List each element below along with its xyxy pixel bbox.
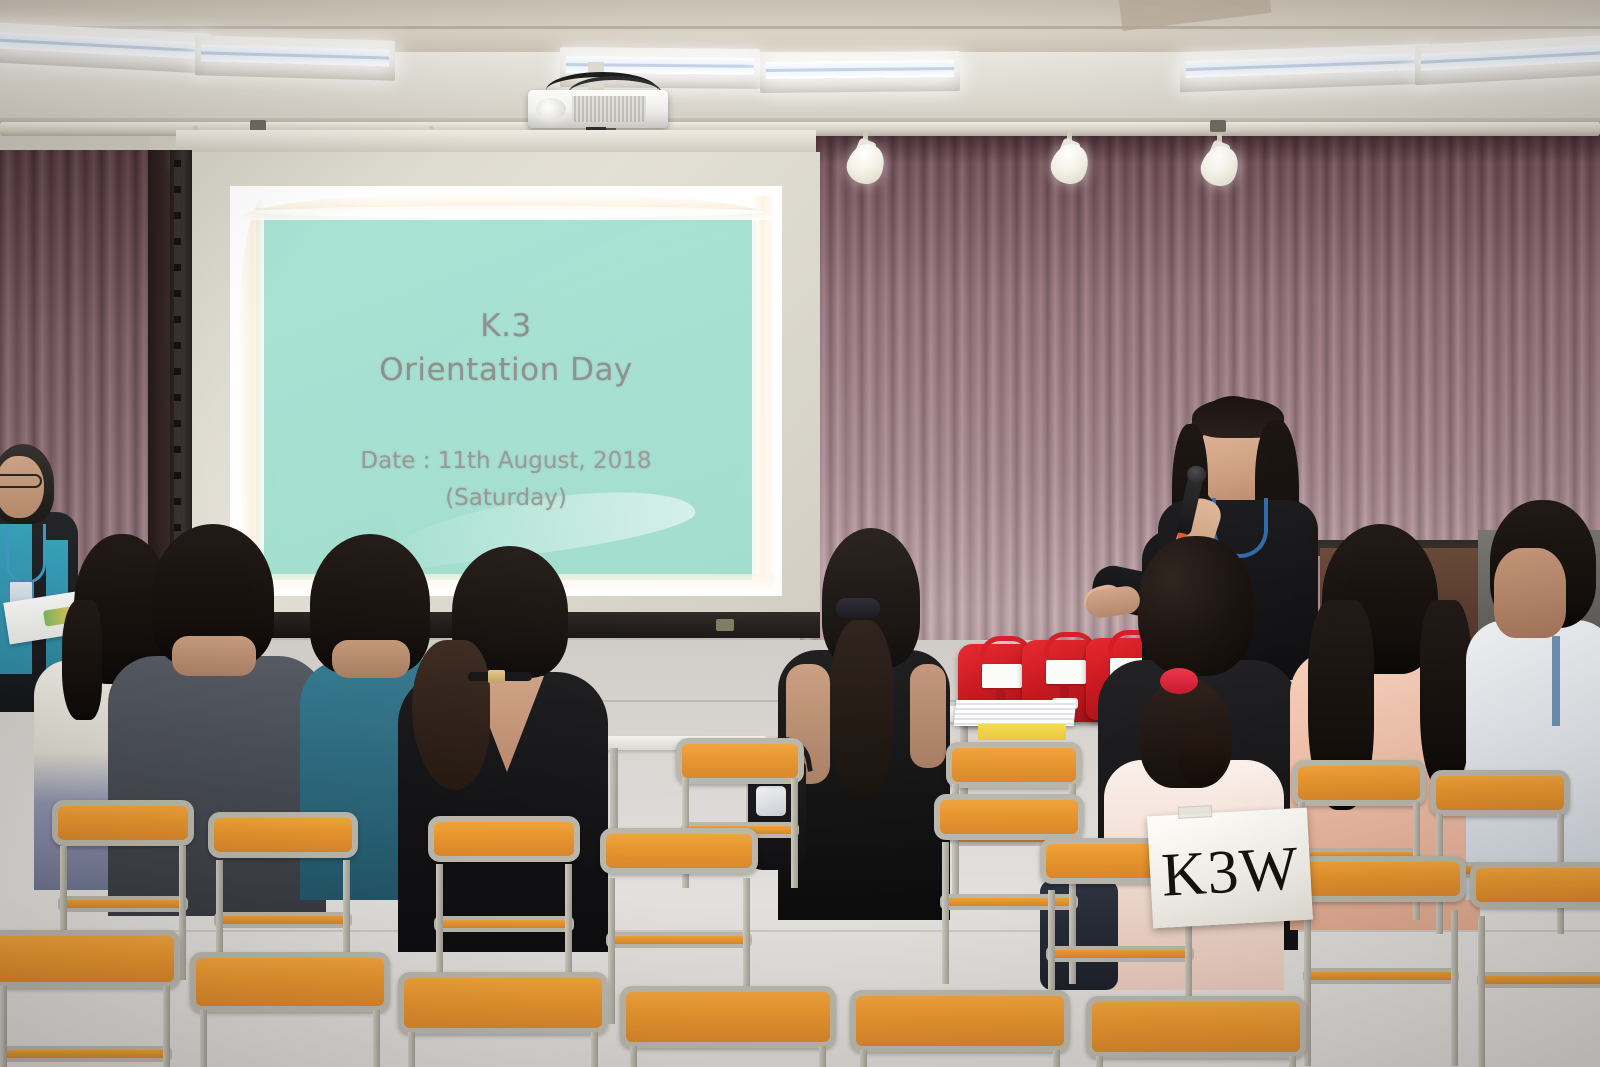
chair-back <box>1292 760 1426 806</box>
chair-leg <box>1053 1050 1060 1067</box>
chair-seat <box>214 912 352 928</box>
chair-back <box>0 930 180 988</box>
chair-back <box>428 816 580 862</box>
light-tube <box>201 44 389 66</box>
chair[interactable] <box>1296 856 1466 1066</box>
chair-leg <box>608 878 615 1024</box>
class-label-text: K3W <box>1160 833 1301 912</box>
chair-seat <box>0 1046 172 1062</box>
chair-leg <box>408 1032 415 1067</box>
slide-day-line: (Saturday) <box>256 481 756 516</box>
chair-leg <box>791 778 798 888</box>
chair[interactable] <box>1086 996 1306 1067</box>
curly-hair <box>1138 536 1254 676</box>
chair-seat <box>58 896 189 912</box>
track-spotlight <box>1052 132 1088 184</box>
chair-leg <box>1478 916 1485 1067</box>
slide-title-line1: K.3 <box>256 304 756 348</box>
track-spotlight <box>848 132 884 184</box>
ceiling-seam <box>0 26 1600 29</box>
necklace-clasp <box>488 670 505 683</box>
chair-back <box>946 742 1082 788</box>
fluorescent-ceiling-light <box>195 35 395 81</box>
slide-border-left <box>238 198 264 590</box>
chair-seat <box>1303 968 1459 984</box>
slide-text-block: K.3 Orientation Day Date : 11th August, … <box>256 304 756 516</box>
class-label-sign: K3W <box>1147 808 1313 929</box>
chair-back <box>398 972 608 1034</box>
ponytail <box>830 620 894 800</box>
arm <box>910 664 946 768</box>
chair-seat <box>1046 946 1193 962</box>
face <box>1494 548 1566 638</box>
light-tube <box>1186 53 1424 78</box>
chair[interactable] <box>190 952 390 1067</box>
chair[interactable] <box>850 990 1070 1067</box>
hair-strand <box>62 600 102 720</box>
chair-leg <box>1289 1056 1296 1067</box>
spotlight-bulb <box>1046 139 1094 190</box>
projector-vents <box>572 96 646 122</box>
projected-slide: K.3 Orientation Day Date : 11th August, … <box>230 186 782 596</box>
chair-leg <box>373 1010 380 1067</box>
chair-leg <box>163 986 170 1067</box>
chair-back <box>850 990 1070 1052</box>
spotlight-bulb <box>1196 141 1244 192</box>
yellow-folder <box>978 724 1066 740</box>
pull-down-projection-screen: K.3 Orientation Day Date : 11th August, … <box>192 152 820 614</box>
paper-stack <box>954 700 1077 726</box>
chair-leg <box>860 1050 867 1067</box>
red-hair-tie <box>1160 668 1198 694</box>
lanyard <box>1552 636 1560 726</box>
chair-seat <box>1477 972 1600 988</box>
light-tube <box>1421 44 1600 71</box>
chair-leg <box>942 842 949 984</box>
projector-body <box>528 90 668 128</box>
spotlight-bulb <box>842 139 890 190</box>
chair-leg <box>630 1046 637 1067</box>
chair-back <box>208 812 358 858</box>
fluorescent-ceiling-light <box>760 51 960 93</box>
chair-leg <box>200 1010 207 1067</box>
light-tube <box>0 32 204 60</box>
chair-leg <box>591 1032 598 1067</box>
chair[interactable] <box>398 972 608 1067</box>
ceiling-projector <box>528 72 668 134</box>
chair[interactable] <box>1470 862 1600 1067</box>
ponytail <box>1178 732 1226 786</box>
track-spotlight <box>1202 134 1238 186</box>
chair-back <box>1296 856 1466 902</box>
neck <box>332 640 410 678</box>
screen-housing <box>176 130 816 152</box>
slide-title-line2: Orientation Day <box>256 348 756 392</box>
backpack-name-tag <box>982 664 1022 688</box>
classroom-photo-scene: K.3 Orientation Day Date : 11th August, … <box>0 0 1600 1067</box>
chair-back <box>1470 862 1600 908</box>
backpack-name-tag <box>1046 660 1086 684</box>
chair-back <box>1086 996 1306 1058</box>
hair-tie <box>836 598 880 618</box>
chair-leg <box>819 1046 826 1067</box>
chair-leg <box>179 846 186 980</box>
light-tube <box>766 60 954 79</box>
chair-seat <box>606 932 751 948</box>
track-clip <box>1210 120 1226 132</box>
slide-background: K.3 Orientation Day Date : 11th August, … <box>256 208 756 580</box>
chair-back <box>190 952 390 1012</box>
chair[interactable] <box>620 986 836 1067</box>
slide-date-line: Date : 11th August, 2018 <box>256 444 756 479</box>
chair-leg <box>1451 910 1458 1066</box>
chair-leg <box>0 986 7 1067</box>
neck <box>172 636 256 676</box>
chair-back <box>620 986 836 1048</box>
slide-border-right <box>752 196 776 592</box>
slide-border-top-accent <box>254 206 764 218</box>
staff-lanyard <box>6 524 46 584</box>
chair-back <box>1430 770 1570 816</box>
glasses-icon <box>0 474 42 488</box>
chair[interactable] <box>0 930 180 1067</box>
chair-back <box>934 794 1084 840</box>
chair-back <box>52 800 194 846</box>
chair-seat <box>434 916 574 932</box>
sign-tape <box>1178 805 1213 819</box>
chair-back <box>600 828 758 874</box>
chair-leg <box>1096 1056 1103 1067</box>
hair-long <box>1420 600 1472 790</box>
chair-back <box>676 738 804 784</box>
